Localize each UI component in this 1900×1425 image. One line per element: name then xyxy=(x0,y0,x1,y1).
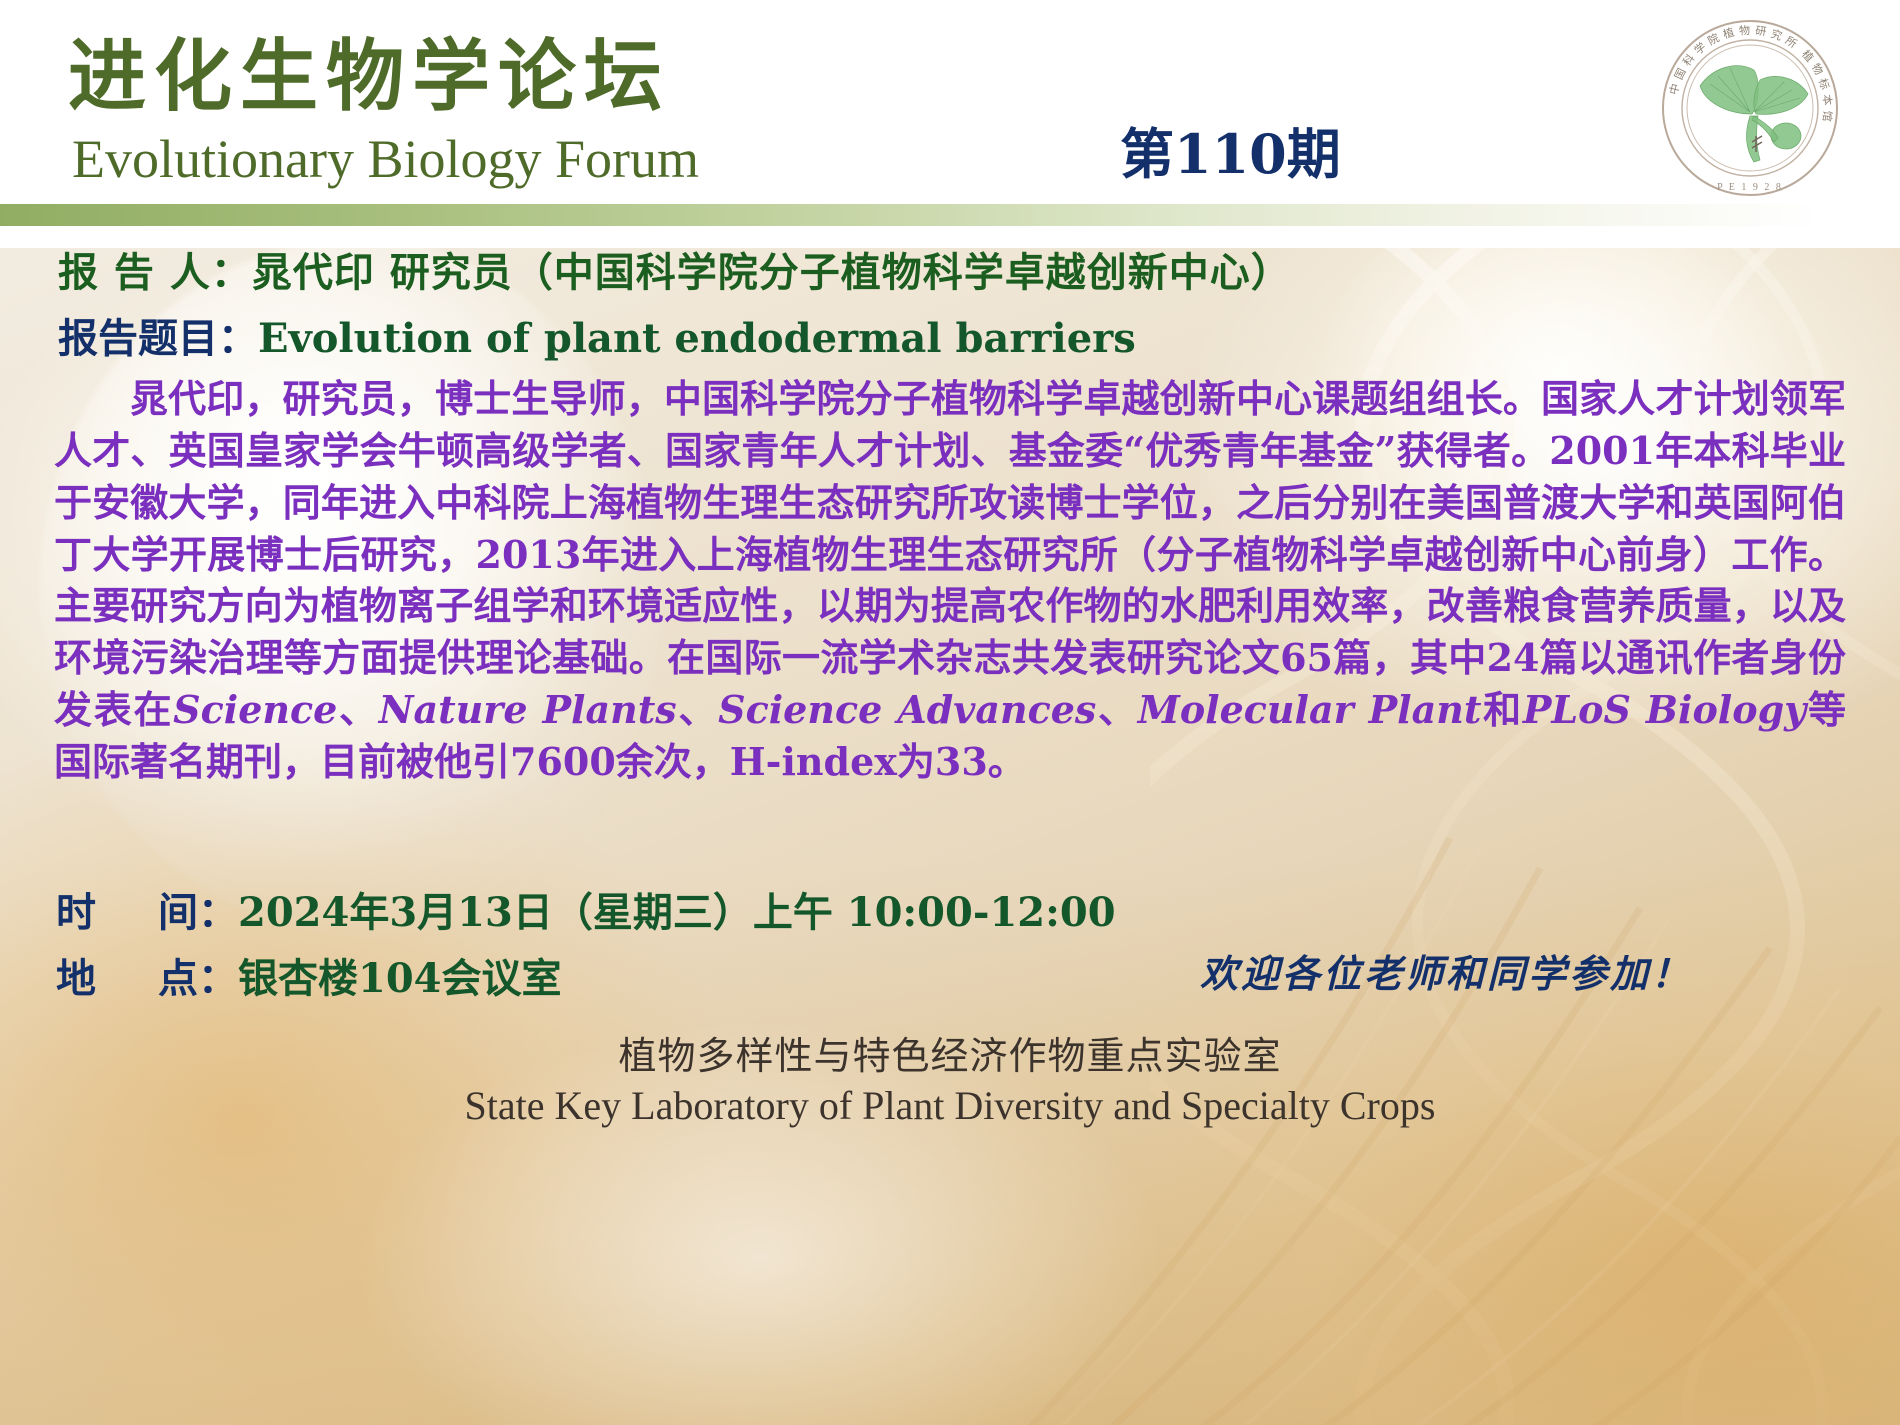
institute-logo: 中 国 科 学 院 植 物 研 究 所 植 物 标 本 馆 xyxy=(1660,18,1840,198)
journal-science-advances: Science Advances xyxy=(718,687,1096,732)
svg-text:馆: 馆 xyxy=(1820,110,1835,122)
svg-text:物: 物 xyxy=(1739,23,1751,38)
topic-line: 报告题目：Evolution of plant endodermal barri… xyxy=(58,306,1136,364)
place-value: 银杏楼104会议室 xyxy=(238,955,562,1002)
poster-footer: 植物多样性与特色经济作物重点实验室 State Key Laboratory o… xyxy=(0,1033,1900,1131)
forum-title-cn: 进化生物学论坛 xyxy=(68,38,670,116)
issue-number: 第110期 xyxy=(1120,110,1341,189)
speaker-label: 报 告 人： xyxy=(58,249,252,296)
time-label-a: 时 xyxy=(56,889,96,936)
topic-value: Evolution of plant endodermal barriers xyxy=(258,315,1136,362)
welcome-message: 欢迎各位老师和同学参加！ xyxy=(1200,943,1692,998)
lab-name-cn: 植物多样性与特色经济作物重点实验室 xyxy=(0,1033,1900,1081)
journal-science: Science xyxy=(173,687,337,732)
svg-text:植: 植 xyxy=(1721,25,1735,41)
place-label-a: 地 xyxy=(56,955,96,1002)
topic-label: 报告题目： xyxy=(58,315,258,362)
svg-text:究: 究 xyxy=(1769,26,1784,43)
bio-paragraph-part1: 晁代印，研究员，博士生导师，中国科学院分子植物科学卓越创新中心课题组组长。国家人… xyxy=(54,376,1846,732)
svg-text:所: 所 xyxy=(1783,34,1799,51)
speaker-line: 报 告 人：晁代印 研究员（中国科学院分子植物科学卓越创新中心） xyxy=(58,240,1292,298)
svg-text:标: 标 xyxy=(1816,77,1833,92)
journal-molecular-plant: Molecular Plant xyxy=(1138,687,1482,732)
speaker-value: 晁代印 研究员（中国科学院分子植物科学卓越创新中心） xyxy=(252,249,1292,296)
time-value: 2024年3月13日（星期三）上午 10:00-12:00 xyxy=(238,889,1116,936)
time-label-b: 间： xyxy=(158,889,238,936)
journal-nature-plants: Nature Plants xyxy=(379,687,677,732)
svg-text:本: 本 xyxy=(1820,94,1835,106)
time-line: 时间：2024年3月13日（星期三）上午 10:00-12:00 xyxy=(56,880,1116,938)
bio-sep-1: 、 xyxy=(337,687,378,732)
svg-text:中: 中 xyxy=(1667,82,1682,96)
journal-plos-biology: PLoS Biology xyxy=(1523,687,1806,732)
poster-content: 报 告 人：晁代印 研究员（中国科学院分子植物科学卓越创新中心） 报告题目：Ev… xyxy=(0,218,1900,1425)
institute-seal-icon: 中 国 科 学 院 植 物 研 究 所 植 物 标 本 馆 xyxy=(1660,18,1840,198)
speaker-biography: 晁代印，研究员，博士生导师，中国科学院分子植物科学卓越创新中心课题组组长。国家人… xyxy=(54,373,1846,788)
bio-conjunction: 和 xyxy=(1481,687,1522,732)
svg-text:国: 国 xyxy=(1672,66,1689,82)
forum-title-en: Evolutionary Biology Forum xyxy=(72,132,699,186)
place-label-b: 点： xyxy=(158,955,238,1002)
bio-sep-2: 、 xyxy=(677,687,718,732)
svg-text:P E 1 9 2 8: P E 1 9 2 8 xyxy=(1717,182,1783,193)
lab-name-en: State Key Laboratory of Plant Diversity … xyxy=(0,1081,1900,1131)
svg-text:研: 研 xyxy=(1754,24,1767,38)
seminar-poster: 进化生物学论坛 Evolutionary Biology Forum 第110期… xyxy=(0,0,1900,1425)
bio-sep-3: 、 xyxy=(1096,687,1137,732)
place-line: 地点：银杏楼104会议室 xyxy=(56,946,562,1004)
